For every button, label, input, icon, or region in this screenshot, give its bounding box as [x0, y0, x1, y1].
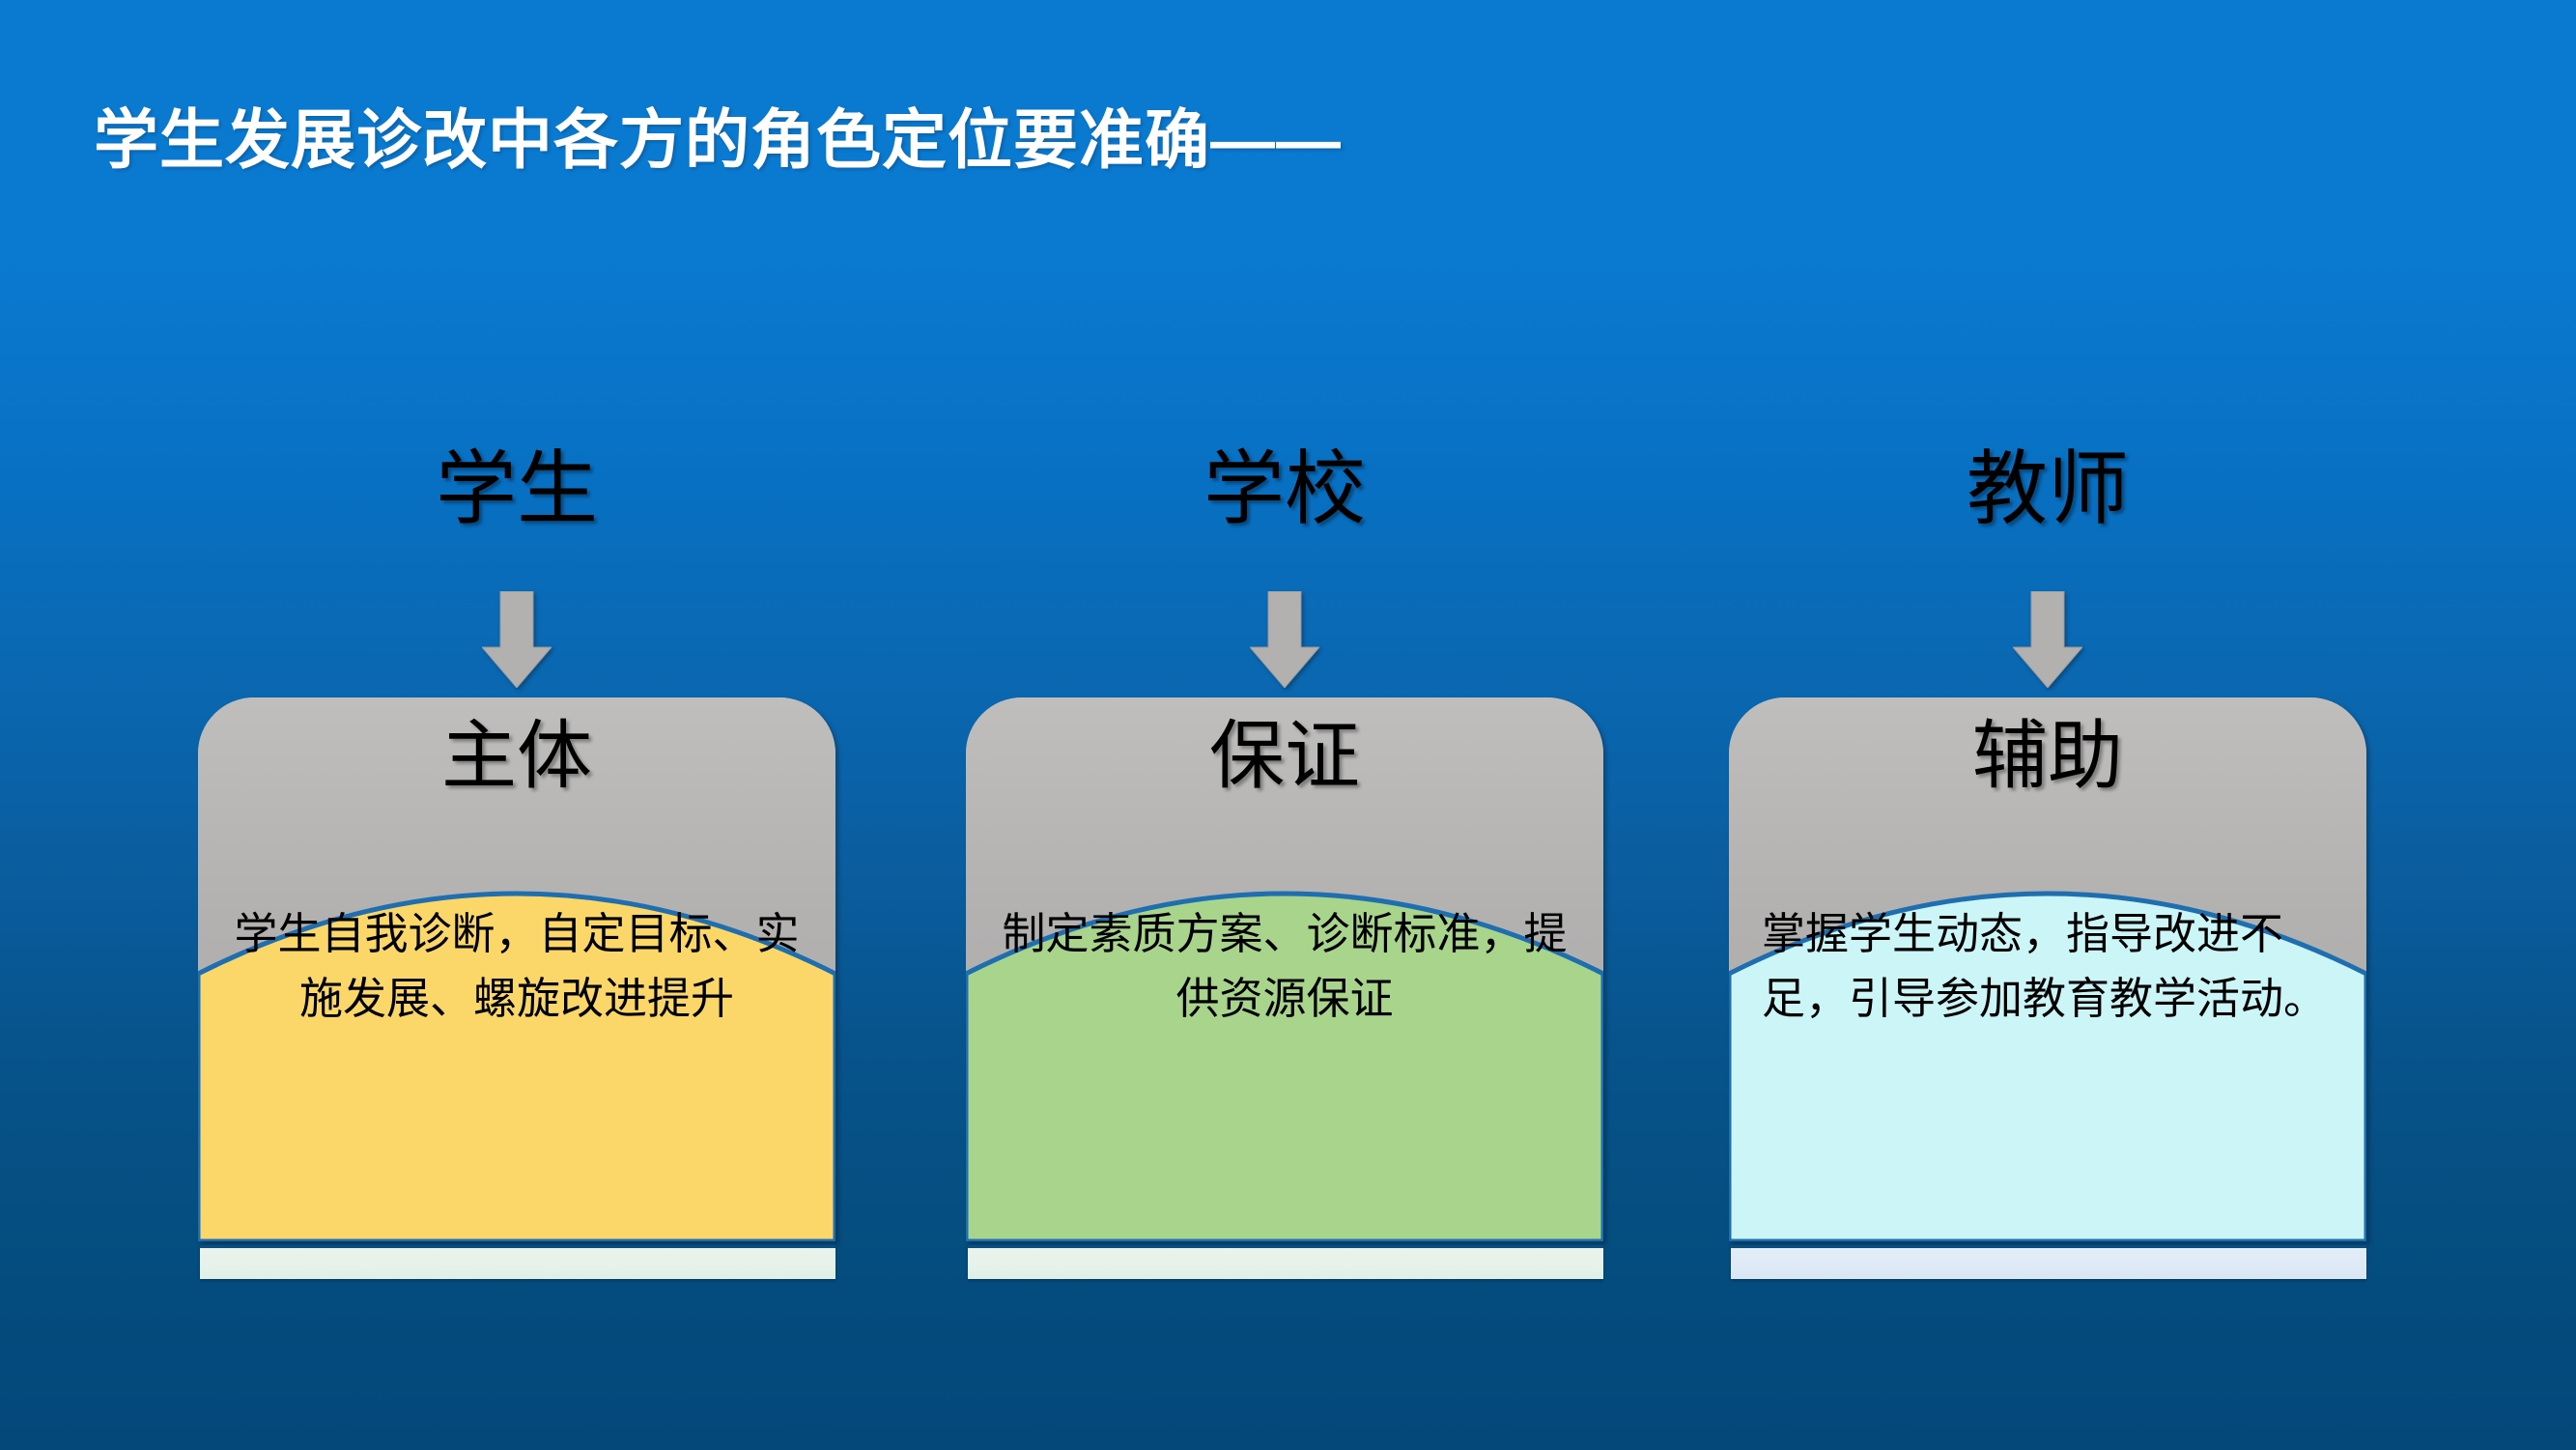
card-body-school: 制定素质方案、诊断标准，提供资源保证 [999, 902, 1571, 1031]
card-strip-student [200, 1245, 835, 1279]
role-columns: 学生 主体 学生自我诊断，自定目标、实施发展、螺旋改进提升 学校 [0, 0, 2576, 1450]
slide-canvas: 学生发展诊改中各方的角色定位要准确—— 学生 主体 学生自我诊断，自定目标、实施… [0, 0, 2576, 1450]
role-card-school: 保证 制定素质方案、诊断标准，提供资源保证 [966, 697, 1603, 1241]
source-label-teacher: 教师 [1729, 450, 2366, 531]
card-heading-school: 保证 [966, 719, 1603, 794]
down-arrow-icon [198, 591, 835, 692]
card-body-teacher: 掌握学生动态，指导改进不足，引导参加教育教学活动。 [1762, 902, 2334, 1031]
role-card-student: 主体 学生自我诊断，自定目标、实施发展、螺旋改进提升 [198, 697, 835, 1241]
role-card-teacher: 辅助 掌握学生动态，指导改进不足，引导参加教育教学活动。 [1729, 697, 2366, 1241]
role-column-school: 学校 保证 制定素质方案、诊断标准，提供资源保证 [966, 0, 1603, 1450]
role-column-teacher: 教师 辅助 掌握学生动态，指导改进不足，引导参加教育教学活动。 [1729, 0, 2366, 1450]
card-heading-student: 主体 [198, 719, 835, 794]
card-heading-teacher: 辅助 [1729, 719, 2366, 794]
source-label-student: 学生 [198, 450, 835, 531]
down-arrow-icon [966, 591, 1603, 692]
card-strip-teacher [1731, 1245, 2366, 1279]
source-label-school: 学校 [966, 450, 1603, 531]
down-arrow-icon [1729, 591, 2366, 692]
card-strip-school [968, 1245, 1603, 1279]
role-column-student: 学生 主体 学生自我诊断，自定目标、实施发展、螺旋改进提升 [198, 0, 835, 1450]
card-body-student: 学生自我诊断，自定目标、实施发展、螺旋改进提升 [231, 902, 803, 1031]
